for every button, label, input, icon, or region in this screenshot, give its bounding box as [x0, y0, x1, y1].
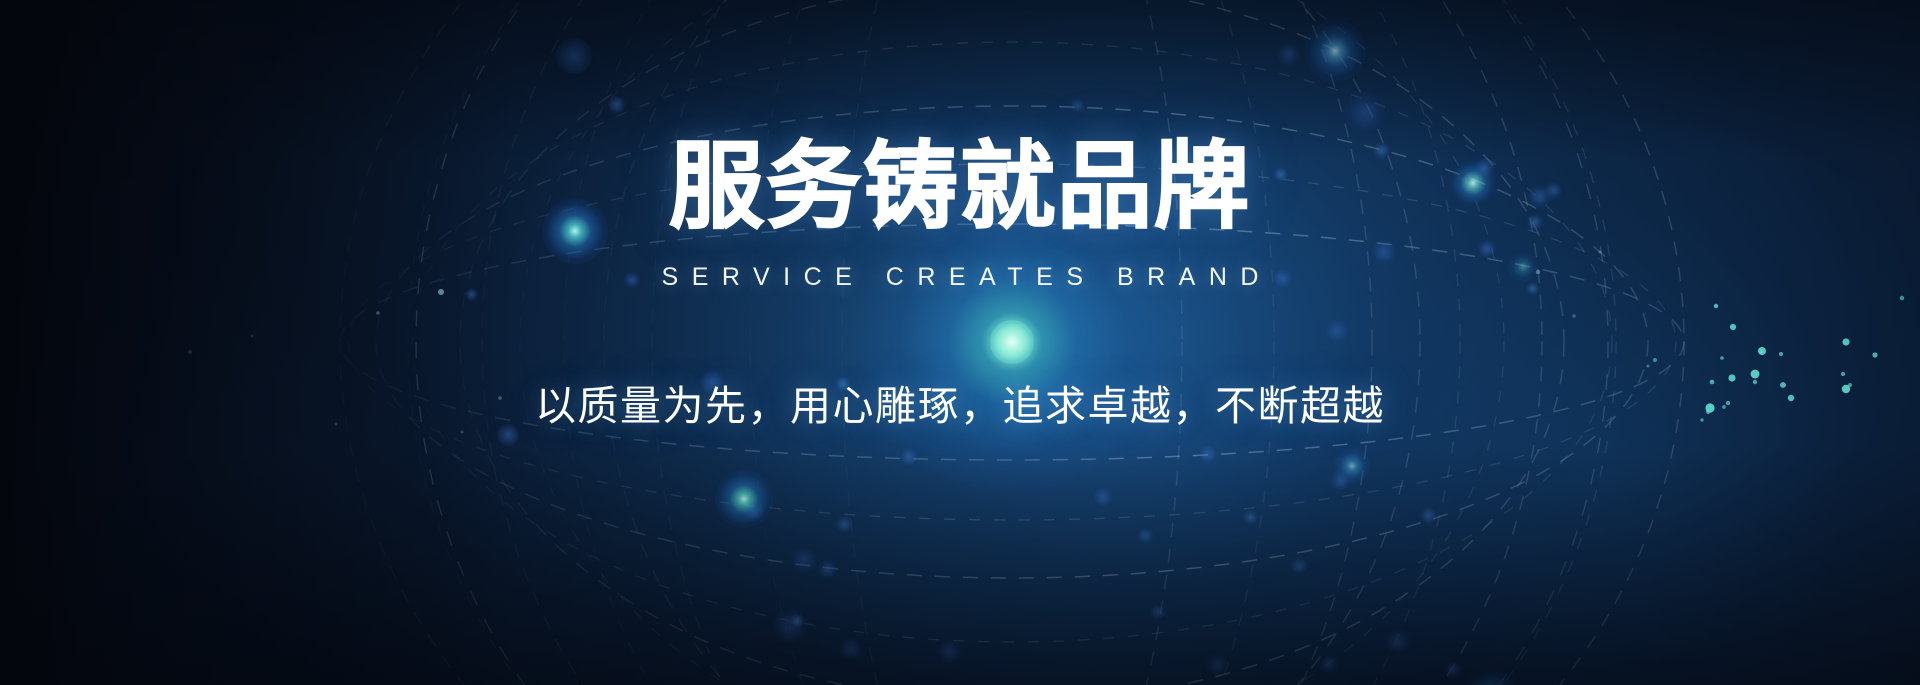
- banner-content: 服务铸就品牌 SERVICE CREATES BRAND 以质量为先，用心雕琢，…: [0, 0, 1920, 685]
- banner-title-cn: 服务铸就品牌: [0, 140, 1920, 235]
- banner-tagline-cn: 以质量为先，用心雕琢，追求卓越，不断超越: [0, 372, 1920, 432]
- banner-subtitle-en: SERVICE CREATES BRAND: [0, 263, 1920, 292]
- hero-banner: 服务铸就品牌 SERVICE CREATES BRAND 以质量为先，用心雕琢，…: [0, 0, 1920, 685]
